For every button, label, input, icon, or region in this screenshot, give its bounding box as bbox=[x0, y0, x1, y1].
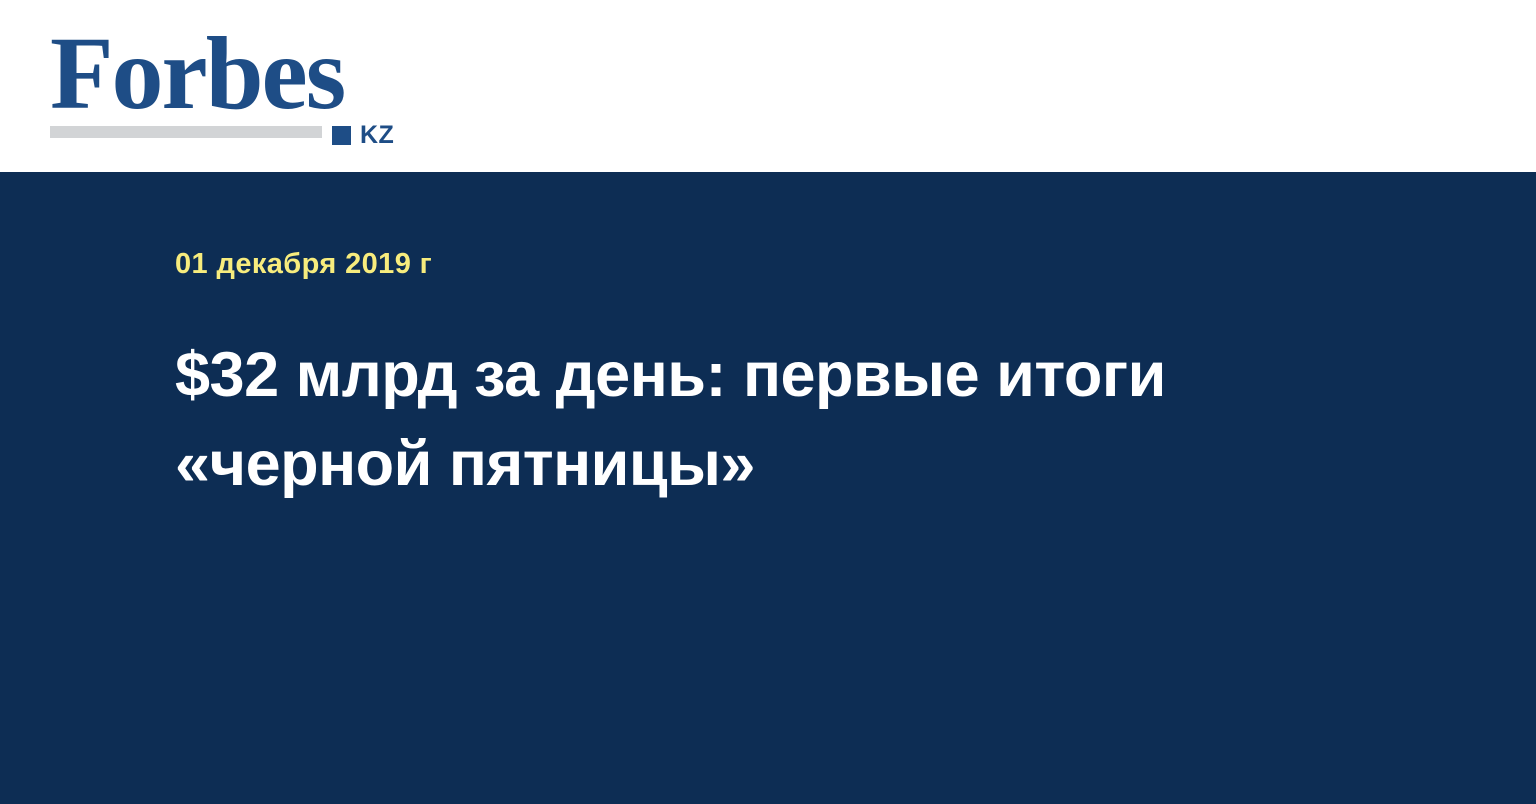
forbes-wordmark: Forbes bbox=[50, 22, 344, 126]
article-headline: $32 млрд за день: первые итоги «черной п… bbox=[175, 281, 1305, 510]
logo-country-suffix: kz bbox=[360, 123, 394, 148]
logo-suffix-group: kz bbox=[332, 123, 394, 148]
hero-section: 01 декабря 2019 г $32 млрд за день: перв… bbox=[0, 172, 1536, 804]
forbes-kz-logo[interactable]: Forbes kz bbox=[50, 22, 420, 142]
hero-content: 01 декабря 2019 г $32 млрд за день: перв… bbox=[175, 172, 1355, 510]
article-hero-card: Forbes kz 01 декабря 2019 г $32 млрд за … bbox=[0, 0, 1536, 804]
square-bullet-icon bbox=[332, 126, 351, 145]
site-header: Forbes kz bbox=[0, 0, 1536, 172]
article-publish-date: 01 декабря 2019 г bbox=[175, 172, 1355, 281]
logo-underline-bar bbox=[50, 126, 322, 138]
